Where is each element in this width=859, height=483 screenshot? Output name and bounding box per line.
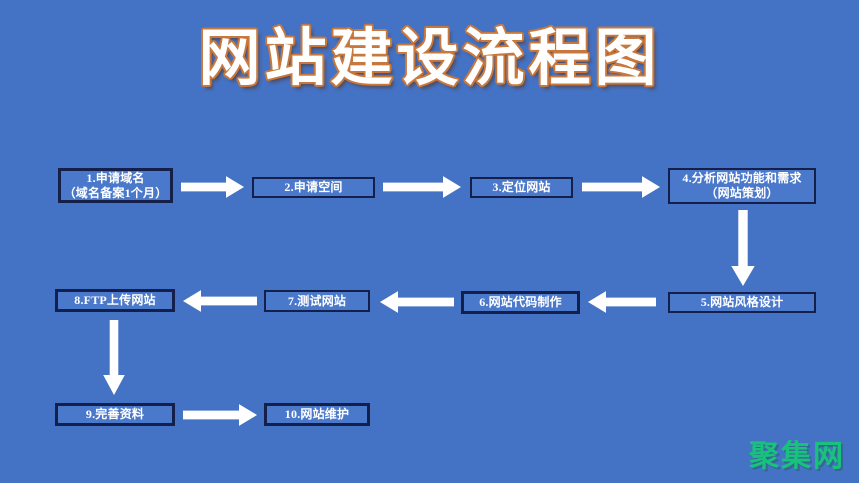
watermark-text: 聚集网 (749, 431, 845, 475)
flowchart-arrow-n9-to-n10 (183, 402, 257, 428)
flowchart-node-n4: 4.分析网站功能和需求 （网站策划） (668, 168, 816, 204)
flowchart-node-n2: 2.申请空间 (252, 177, 375, 198)
flowchart-arrow-n1-to-n2 (181, 174, 244, 200)
flowchart-arrow-n7-to-n8 (183, 288, 257, 314)
flowchart-canvas: 网站建设流程图 1.申请域名 （域名备案1个月）2.申请空间3.定位网站4.分析… (0, 0, 859, 483)
flowchart-arrow-n3-to-n4 (582, 174, 660, 200)
flowchart-node-n8: 8.FTP上传网站 (55, 289, 175, 312)
flowchart-node-n9: 9.完善资料 (55, 403, 175, 426)
flowchart-arrow-n8-to-n9 (102, 320, 126, 395)
flowchart-arrow-n2-to-n3 (383, 174, 461, 200)
flowchart-arrow-n5-to-n6 (588, 289, 656, 315)
page-title: 网站建设流程图 (0, 24, 859, 95)
flowchart-node-n5: 5.网站风格设计 (668, 292, 816, 313)
flowchart-node-n10: 10.网站维护 (264, 403, 370, 426)
flowchart-arrow-n6-to-n7 (380, 289, 454, 315)
flowchart-node-n7: 7.测试网站 (264, 290, 370, 312)
flowchart-node-n1: 1.申请域名 （域名备案1个月） (58, 168, 173, 203)
flowchart-arrow-n4-to-n5 (730, 210, 756, 286)
flowchart-node-n3: 3.定位网站 (470, 177, 573, 198)
flowchart-node-n6: 6.网站代码制作 (461, 291, 580, 314)
